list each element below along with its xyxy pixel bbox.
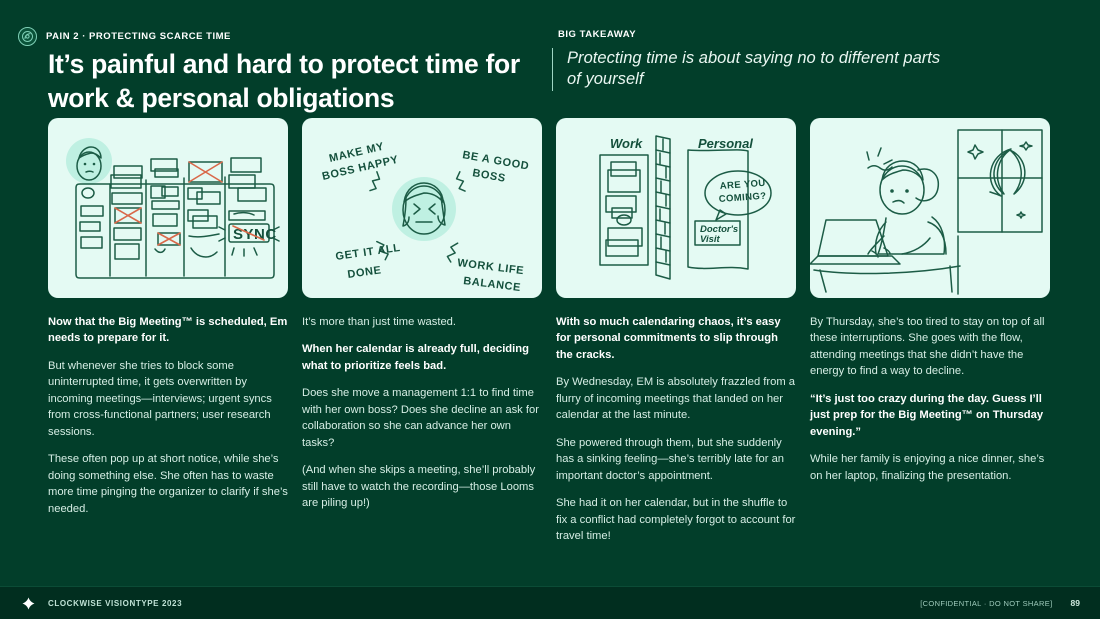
competing-priorities-sketch: MAKE MY BOSS HAPPY BE A GOOD BOSS GET IT… (302, 118, 542, 298)
story-body-1: Now that the Big Meeting™ is scheduled, … (48, 298, 288, 517)
svg-text:BOSS: BOSS (471, 167, 506, 185)
paragraph: She powered through them, but she sudden… (556, 435, 796, 484)
story-column-2: MAKE MY BOSS HAPPY BE A GOOD BOSS GET IT… (302, 118, 542, 558)
takeaway-block: Protecting time is about saying no to di… (552, 48, 952, 91)
takeaway-text: Protecting time is about saying no to di… (567, 48, 952, 91)
seal-badge-icon (18, 27, 37, 46)
svg-text:BE A GOOD: BE A GOOD (461, 149, 530, 173)
paragraph: Now that the Big Meeting™ is scheduled, … (48, 314, 288, 347)
slide: PAIN 2 · PROTECTING SCARCE TIME It’s pai… (0, 0, 1100, 619)
paragraph: These often pop up at short notice, whil… (48, 451, 288, 517)
confidential-note: [CONFIDENTIAL · DO NOT SHARE] (920, 599, 1052, 608)
work-personal-wall-sketch: Work Personal (556, 118, 796, 298)
paragraph: With so much calendaring chaos, it’s eas… (556, 314, 796, 363)
story-columns: SYNC Now that the Big Meeting™ is schedu… (48, 118, 1052, 558)
svg-text:GET IT ALL: GET IT ALL (335, 242, 402, 263)
paragraph: But whenever she tries to block some uni… (48, 358, 288, 440)
paragraph: She had it on her calendar, but in the s… (556, 495, 796, 544)
slide-footer: CLOCKWISE VISIONTYPE 2023 [CONFIDENTIAL … (0, 586, 1100, 619)
footer-meta-group: [CONFIDENTIAL · DO NOT SHARE] 89 (920, 598, 1080, 608)
calendar-overwritten-sketch: SYNC (48, 118, 288, 298)
paragraph: By Wednesday, EM is absolutely frazzled … (556, 374, 796, 423)
paragraph: When her calendar is already full, decid… (302, 341, 542, 374)
svg-text:Work: Work (610, 136, 643, 151)
story-column-1: SYNC Now that the Big Meeting™ is schedu… (48, 118, 288, 558)
story-body-3: With so much calendaring chaos, it’s eas… (556, 298, 796, 544)
paragraph: By Thursday, she’s too tired to stay on … (810, 314, 1050, 380)
paragraph: It’s more than just time wasted. (302, 314, 542, 330)
page-number: 89 (1071, 598, 1080, 608)
slide-header: PAIN 2 · PROTECTING SCARCE TIME It’s pai… (0, 0, 1100, 112)
takeaway-label: BIG TAKEAWAY (558, 29, 636, 40)
paragraph: While her family is enjoying a nice dinn… (810, 451, 1050, 484)
story-body-2: It’s more than just time wasted. When he… (302, 298, 542, 512)
svg-text:WORK LIFE: WORK LIFE (457, 257, 525, 277)
page-title: It’s painful and hard to protect time fo… (48, 48, 548, 116)
footer-brand-label: CLOCKWISE VISIONTYPE 2023 (48, 599, 182, 608)
footer-brand-group: CLOCKWISE VISIONTYPE 2023 (20, 595, 182, 612)
svg-text:COMING?: COMING? (718, 191, 766, 205)
eyebrow-label: PAIN 2 · PROTECTING SCARCE TIME (46, 31, 231, 42)
clockwise-diamond-logo-icon (20, 595, 37, 612)
paragraph: (And when she skips a meeting, she’ll pr… (302, 462, 542, 511)
working-late-at-night-sketch (810, 118, 1050, 298)
svg-text:BALANCE: BALANCE (463, 275, 522, 294)
svg-text:Visit: Visit (700, 234, 721, 245)
eyebrow-row: PAIN 2 · PROTECTING SCARCE TIME (18, 27, 231, 46)
svg-text:DONE: DONE (347, 264, 383, 281)
paragraph: “It’s just too crazy during the day. Gue… (810, 391, 1050, 440)
svg-text:ARE YOU: ARE YOU (719, 178, 766, 192)
story-column-3: Work Personal (556, 118, 796, 558)
story-column-4: By Thursday, she’s too tired to stay on … (810, 118, 1050, 558)
svg-text:Personal: Personal (698, 136, 753, 151)
paragraph: Does she move a management 1:1 to find t… (302, 385, 542, 451)
story-body-4: By Thursday, she’s too tired to stay on … (810, 298, 1050, 484)
